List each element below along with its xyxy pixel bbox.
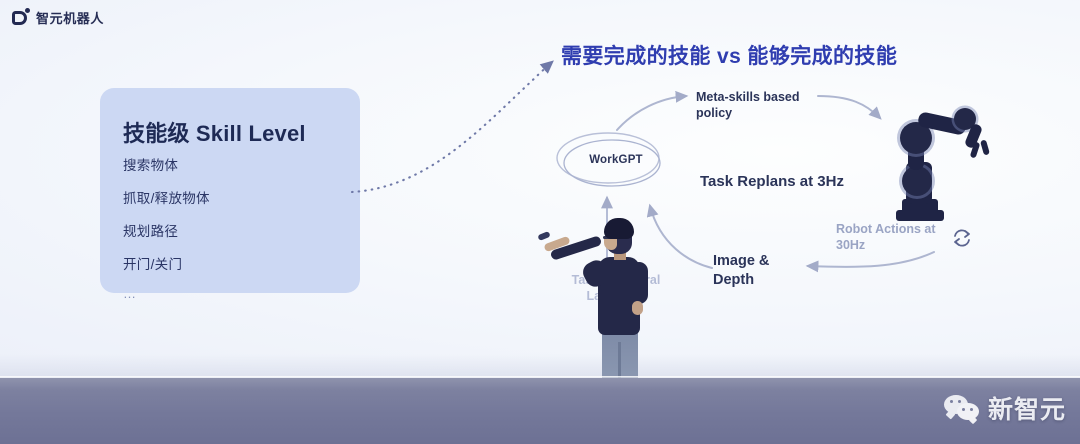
dotted-flow-arrow [352,62,552,192]
workgpt-label: WorkGPT [580,154,652,166]
screenshot-root: 智元机器人 技能级 Skill Level 搜索物体 抓取/释放物体 规划路径 … [0,0,1080,444]
arrow-robot-to-imagedepth [808,252,934,267]
arrow-metaskills-to-robot [818,96,880,118]
watermark-text: 新智元 [988,390,1066,426]
image-depth-label: Image & Depth [713,252,793,289]
meta-skills-label: Meta-skills based policy [696,89,816,121]
stage-floor [0,378,1080,444]
wechat-icon [944,395,980,421]
watermark: 新智元 [944,390,1066,426]
task-replans-label: Task Replans at 3Hz [700,172,844,191]
arrow-workgpt-to-metaskills [617,96,686,130]
robot-arm-icon [878,102,990,234]
